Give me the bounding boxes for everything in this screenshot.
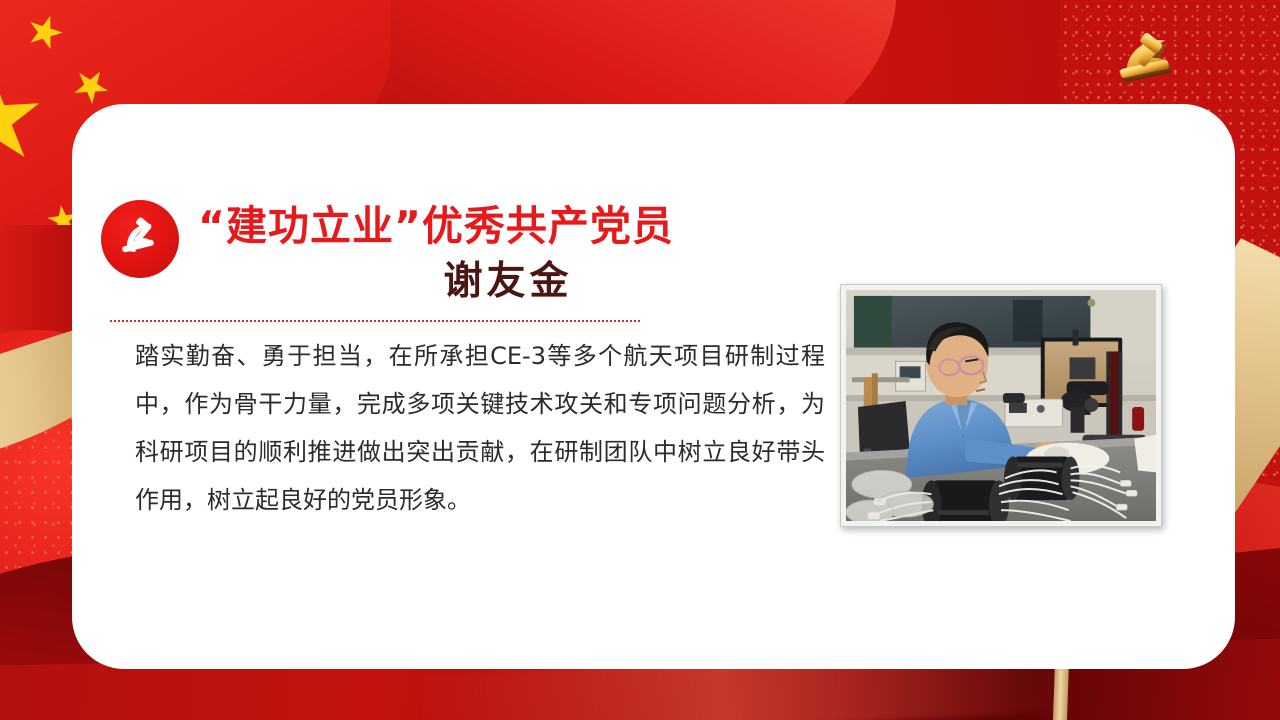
engineer-lab-photo bbox=[846, 290, 1156, 521]
cpc-hammer-sickle-emblem-icon bbox=[1100, 22, 1204, 98]
slide-root: “建功立业”优秀共产党员 谢友金 踏实勤奋、勇于担当，在所承担CE-3等多个航天… bbox=[0, 0, 1280, 720]
page-title: “建功立业”优秀共产党员 bbox=[198, 206, 818, 247]
body-paragraph: 踏实勤奋、勇于担当，在所承担CE-3等多个航天项目研制过程中，作为骨干力量，完成… bbox=[135, 332, 825, 524]
cpc-badge-icon bbox=[101, 200, 179, 278]
person-name: 谢友金 bbox=[198, 262, 818, 301]
photo-frame bbox=[840, 284, 1162, 527]
dotted-divider bbox=[110, 320, 640, 322]
